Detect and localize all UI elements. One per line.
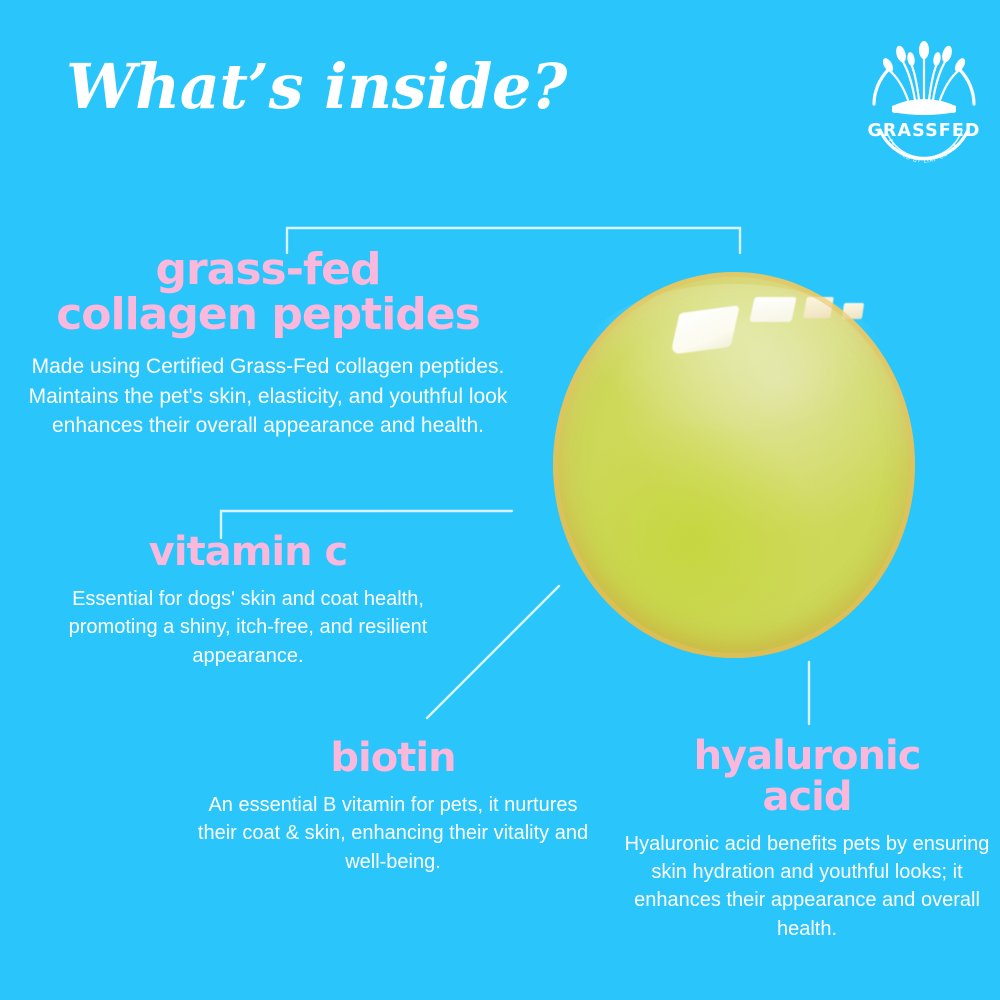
ingredient-collagen-heading: grass-fed collagen peptides [8,248,528,338]
grass-wheat-icon [889,56,959,100]
ingredient-hyaluronic-heading: hyaluronic acid [618,736,996,818]
specular-highlight-1 [670,305,740,355]
ingredient-vitaminc-heading: vitamin c [38,532,458,573]
infographic-canvas: What’s inside? [0,0,1000,1000]
grassfed-badge-svg: GRASSFED CERTIFIED BY LIAF CONTROL [862,26,986,164]
ingredient-hyaluronic-body: Hyaluronic acid benefits pets by ensurin… [618,830,996,944]
grassfed-badge: GRASSFED CERTIFIED BY LIAF CONTROL [862,26,986,164]
ingredient-collagen-body: Made using Certified Grass-Fed collagen … [8,352,528,441]
ingredient-vitaminc-body: Essential for dogs' skin and coat health… [38,585,458,670]
sphere-top-sheen [582,284,886,438]
specular-highlight-3 [803,297,834,318]
sphere-rim [553,272,915,658]
gel-droplet-sphere [553,272,915,658]
ingredient-biotin: biotin An essential B vitamin for pets, … [188,738,598,876]
badge-brand-text: GRASSFED [867,121,980,141]
page-title: What’s inside? [66,54,567,119]
ingredient-biotin-body: An essential B vitamin for pets, it nurt… [188,791,598,876]
badge-subtext: CERTIFIED BY LIAF CONTROL [862,26,959,164]
ingredient-vitaminc: vitamin c Essential for dogs' skin and c… [38,532,458,670]
specular-highlight-2 [749,297,796,322]
ingredient-collagen: grass-fed collagen peptides Made using C… [8,248,528,441]
ingredient-biotin-heading: biotin [188,738,598,779]
ingredient-hyaluronic: hyaluronic acid Hyaluronic acid benefits… [618,736,996,943]
specular-highlight-4 [841,303,863,319]
